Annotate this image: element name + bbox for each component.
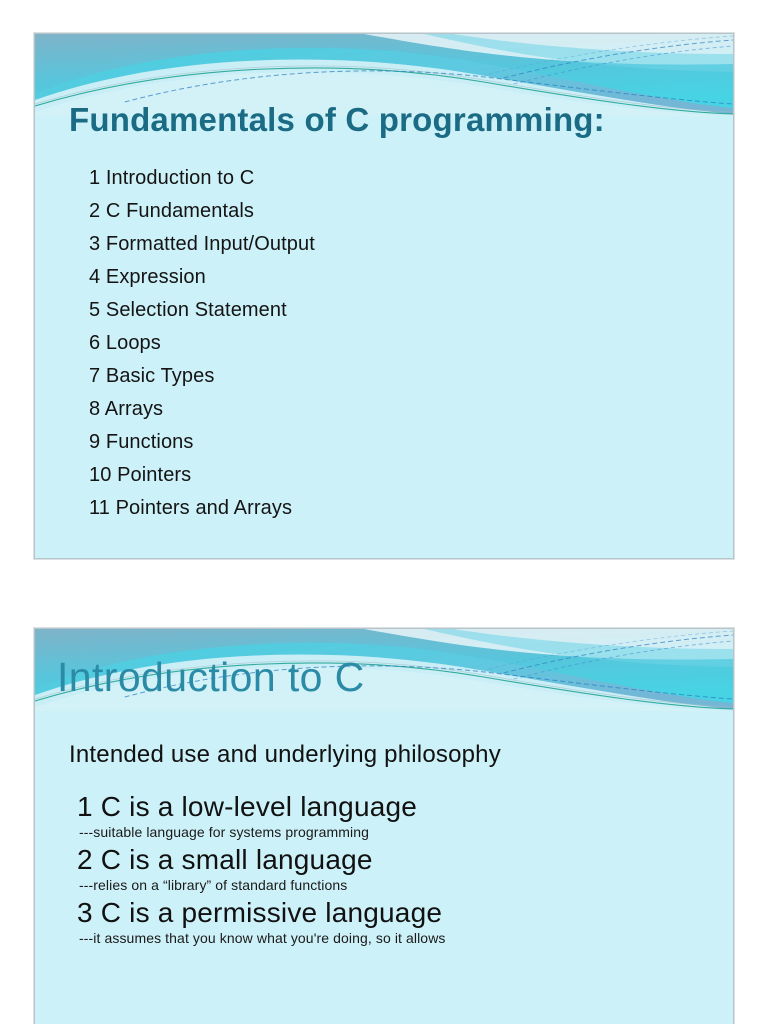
document-page: Fundamentals of C programming: 1 Introdu… [0, 0, 768, 1024]
slide-1: Fundamentals of C programming: 1 Introdu… [34, 33, 734, 559]
slide-1-title: Fundamentals of C programming: [69, 101, 605, 139]
slide-2-title: Introduction to C [57, 654, 365, 701]
list-item: 7 Basic Types [89, 360, 315, 393]
list-item: 6 Loops [89, 327, 315, 360]
list-item: 4 Expression [89, 261, 315, 294]
point-heading: 1 C is a low-level language [77, 791, 733, 823]
agenda-list: 1 Introduction to C 2 C Fundamentals 3 F… [89, 162, 315, 525]
point-detail: ---relies on a “library” of standard fun… [79, 877, 733, 893]
list-item: 9 Functions [89, 426, 315, 459]
list-item: 1 Introduction to C [89, 162, 315, 195]
slide-2-lead-text: Intended use and underlying philosophy [69, 741, 733, 769]
list-item: 5 Selection Statement [89, 294, 315, 327]
list-item: 3 Formatted Input/Output [89, 228, 315, 261]
slide-2: Introduction to C Intended use and under… [34, 628, 734, 1024]
list-item: 11 Pointers and Arrays [89, 492, 315, 525]
list-item: 8 Arrays [89, 393, 315, 426]
point-heading: 2 C is a small language [77, 844, 733, 876]
point-heading: 3 C is a permissive language [77, 897, 733, 929]
point-detail: ---suitable language for systems program… [79, 824, 733, 840]
list-item: 10 Pointers [89, 459, 315, 492]
slide-2-content: Intended use and underlying philosophy 1… [35, 741, 733, 950]
point-detail: ---it assumes that you know what you're … [79, 930, 733, 946]
list-item: 2 C Fundamentals [89, 195, 315, 228]
